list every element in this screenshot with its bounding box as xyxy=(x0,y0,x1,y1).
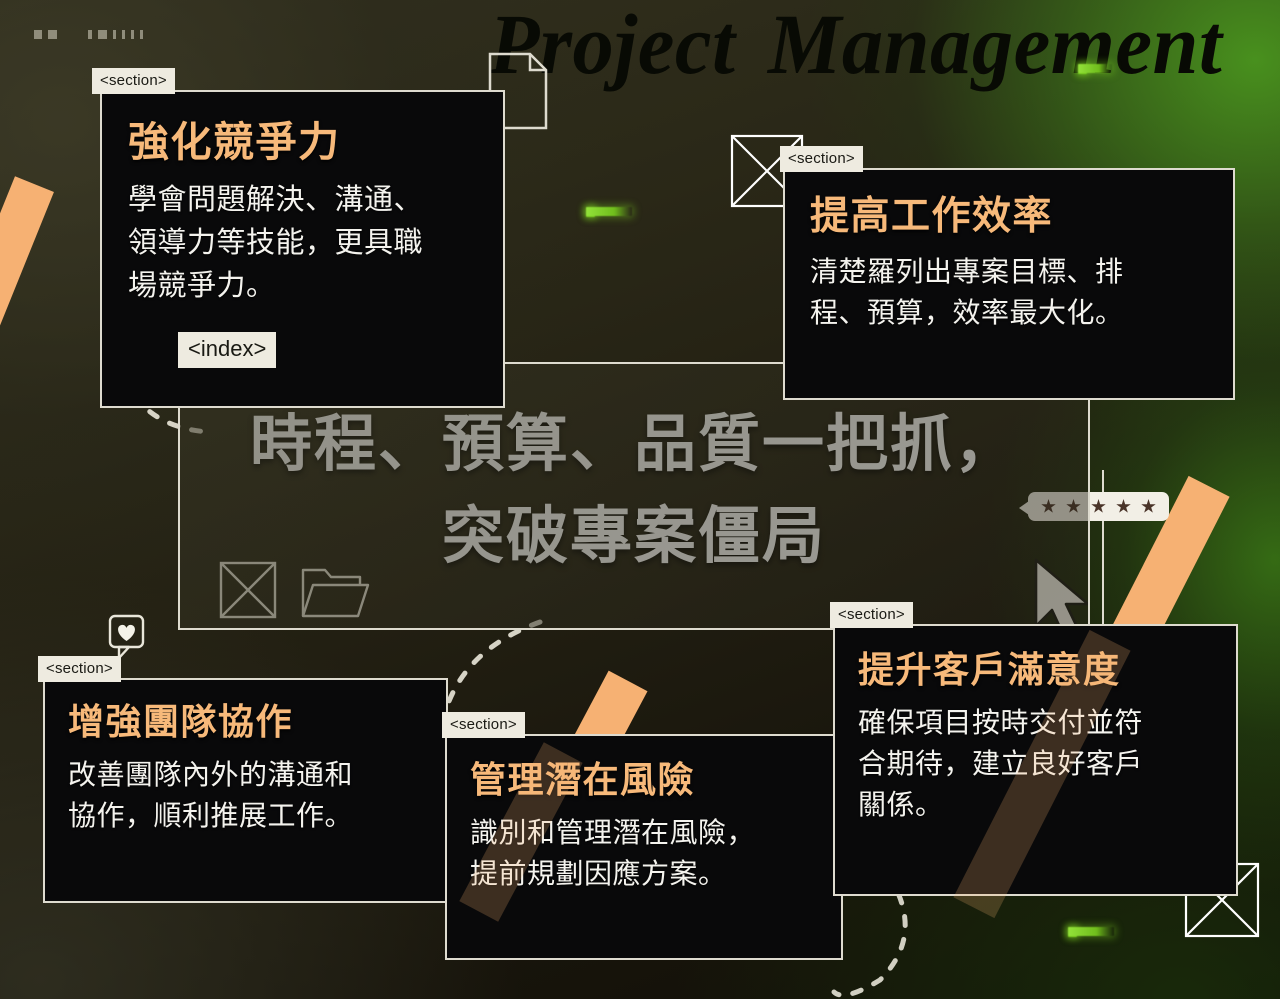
star-icon xyxy=(1141,499,1156,514)
section-text-line1: 學會問題解決、溝通、 xyxy=(128,179,488,222)
section-text-line2: 協作，順利推展工作。 xyxy=(68,795,448,836)
section-title: 增強團隊協作 xyxy=(68,702,448,742)
section-title: 提高工作效率 xyxy=(810,196,1230,239)
section-tag: <section> xyxy=(442,712,525,738)
section-tag: <section> xyxy=(830,602,913,628)
section-tag: <section> xyxy=(780,146,863,172)
orange-diagonal-bar-left xyxy=(0,176,54,348)
section-text-line3: 關係。 xyxy=(858,784,1238,825)
heart-bubble-icon xyxy=(108,614,146,660)
decorative-dots-left xyxy=(34,30,63,39)
star-icon xyxy=(1116,499,1131,514)
section-text-line2: 提前規劃因應方案。 xyxy=(470,853,840,894)
page-title: ProjectManagement xyxy=(489,0,1222,94)
section-text-line1: 確保項目按時交付並符 xyxy=(858,702,1238,743)
section-text-line3: 場競爭力。 xyxy=(128,265,488,308)
section-text-line1: 清楚羅列出專案目標、排 xyxy=(810,251,1230,292)
dashed-curve-middle xyxy=(432,616,562,726)
section-text-line1: 改善團隊內外的溝通和 xyxy=(68,754,448,795)
decorative-dots-right xyxy=(88,30,149,39)
section-tag: <section> xyxy=(92,68,175,94)
green-accent-title xyxy=(1078,63,1087,74)
section-tag: <section> xyxy=(38,656,121,682)
green-accent-top xyxy=(586,206,595,217)
star-icon xyxy=(1091,499,1106,514)
index-tag: <index> xyxy=(178,332,276,368)
section-text-line1: 識別和管理潛在風險， xyxy=(470,812,840,853)
page-title-word-2: Management xyxy=(768,0,1222,92)
section-title: 管理潛在風險 xyxy=(470,760,840,800)
section-text-line2: 程、預算，效率最大化。 xyxy=(810,292,1230,333)
section-text-line2: 合期待，建立良好客戶 xyxy=(858,743,1238,784)
section-title: 提升客戶滿意度 xyxy=(858,650,1238,690)
section-text-line2: 領導力等技能，更具職 xyxy=(128,222,488,265)
green-accent-bottom xyxy=(1068,926,1077,937)
section-title: 強化競爭力 xyxy=(128,120,488,165)
poster-canvas: ProjectManagement xyxy=(0,0,1280,999)
